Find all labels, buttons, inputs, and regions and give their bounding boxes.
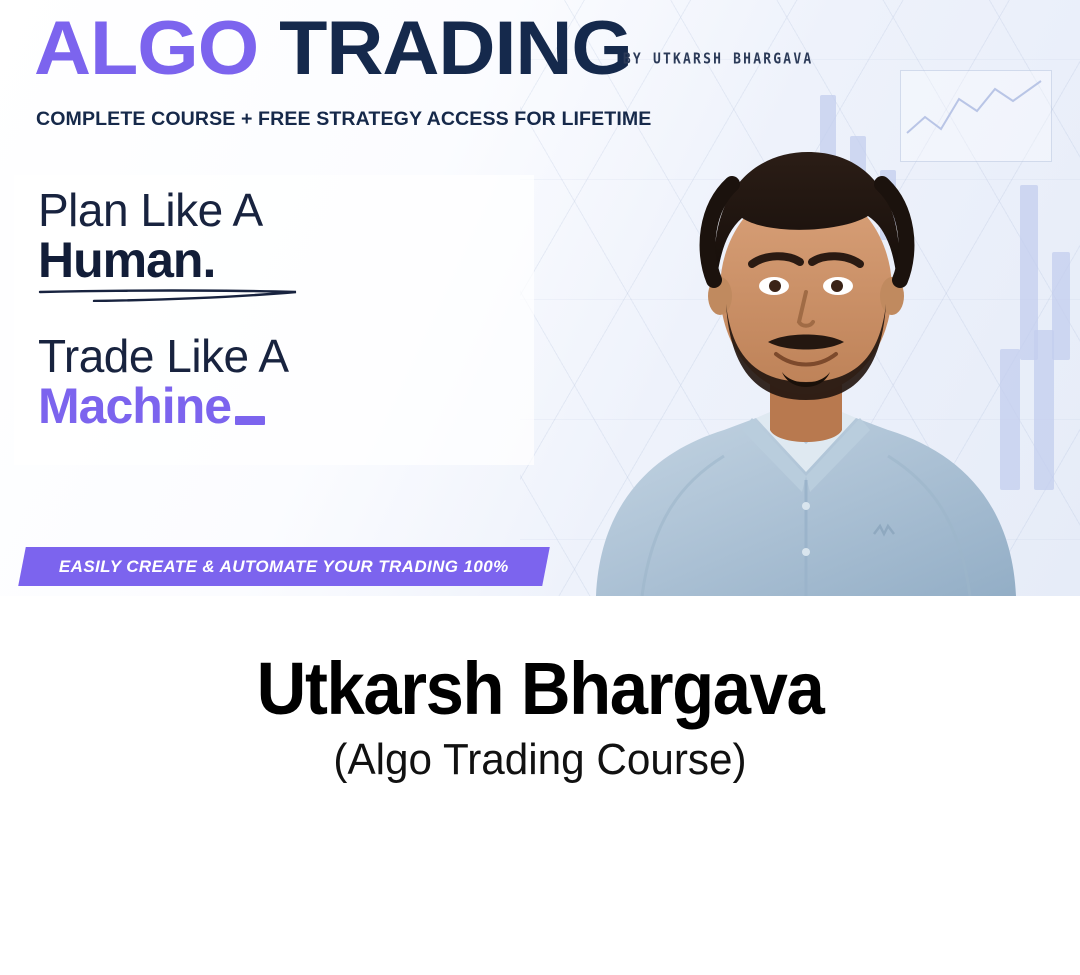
typing-cursor-icon	[235, 416, 265, 425]
logo-byline: BY UTKARSH BHARGAVA	[623, 51, 814, 84]
instructor-name: Utkarsh Bhargava	[38, 651, 1042, 726]
promo-ribbon-text: EASILY CREATE & AUTOMATE YOUR TRADING 10…	[59, 557, 509, 577]
instructor-portrait	[556, 100, 1056, 596]
course-name: (Algo Trading Course)	[22, 736, 1059, 784]
headline-line-4-text: Machine	[38, 378, 231, 434]
headline-line-4: Machine	[38, 381, 508, 432]
headline-line-1: Plan Like A	[38, 186, 508, 235]
logo-wordmark: ALGO TRADING	[34, 14, 632, 84]
brand-logo: ALGO TRADING BY UTKARSH BHARGAVA	[34, 14, 813, 84]
logo-word-trading: TRADING	[258, 6, 632, 91]
caption-block: Utkarsh Bhargava (Algo Trading Course)	[0, 596, 1080, 785]
promo-ribbon: EASILY CREATE & AUTOMATE YOUR TRADING 10…	[18, 547, 550, 586]
headline-line-3: Trade Like A	[38, 332, 508, 381]
headline-line-2: Human.	[38, 235, 508, 286]
headline-block: Plan Like A Human. Trade Like A Machine	[38, 186, 508, 432]
course-banner-image: ALGO TRADING BY UTKARSH BHARGAVA COMPLET…	[0, 0, 1080, 596]
logo-word-algo: ALGO	[34, 6, 258, 91]
headline-underline-swash	[38, 288, 300, 302]
